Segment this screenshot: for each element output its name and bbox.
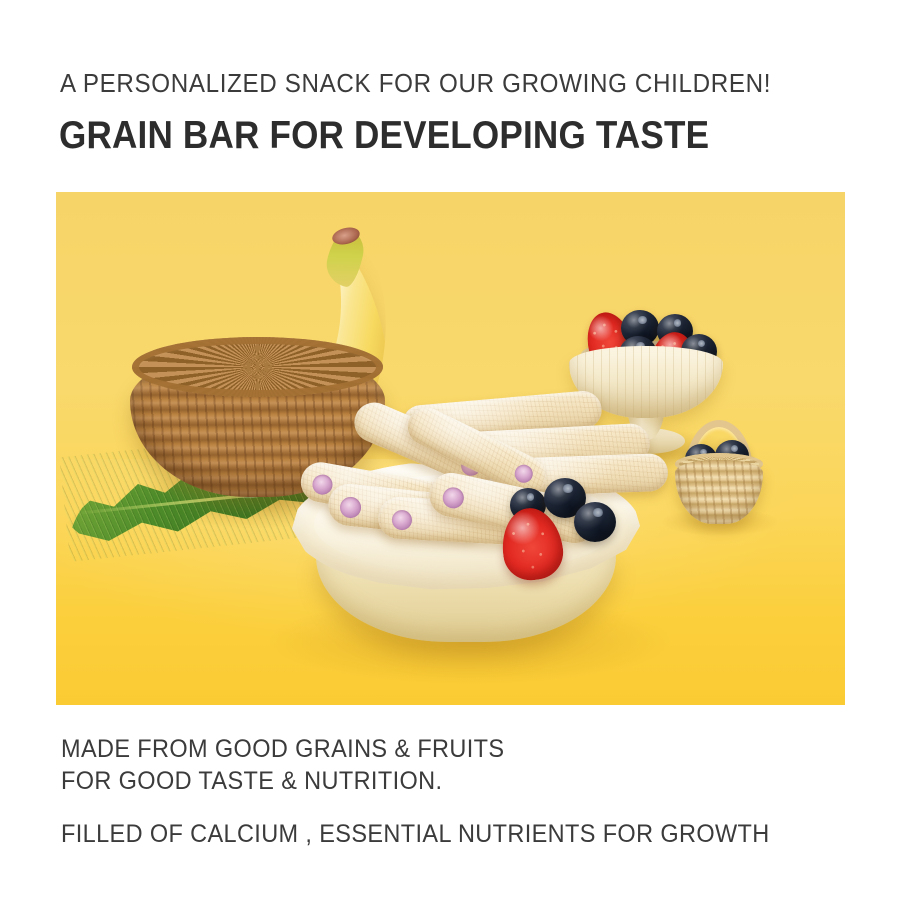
grain-bar-filling [512, 462, 536, 486]
benefit-text-secondary: FILLED OF CALCIUM , ESSENTIAL NUTRIENTS … [61, 820, 770, 849]
wicker-basket-small [671, 420, 767, 528]
grain-bar-filling [441, 485, 466, 510]
basket-small-body [675, 460, 763, 524]
page-title: GRAIN BAR FOR DEVELOPING TASTE [59, 114, 709, 158]
benefit-line-2: FOR GOOD TASTE & NUTRITION. [61, 765, 504, 797]
blueberry [574, 502, 616, 542]
product-banner: A PERSONALIZED SNACK FOR OUR GROWING CHI… [0, 0, 900, 900]
basket-large-rim [132, 337, 383, 397]
benefit-text-primary: MADE FROM GOOD GRAINS & FRUITS FOR GOOD … [61, 733, 504, 797]
pedestal-rim [569, 336, 723, 372]
benefit-line-1: MADE FROM GOOD GRAINS & FRUITS [61, 733, 504, 765]
grain-bar-filling [339, 496, 362, 519]
flower-plate [292, 460, 640, 660]
eyebrow-text: A PERSONALIZED SNACK FOR OUR GROWING CHI… [60, 68, 771, 99]
product-photo [56, 192, 845, 705]
grain-bar-filling [391, 510, 412, 531]
